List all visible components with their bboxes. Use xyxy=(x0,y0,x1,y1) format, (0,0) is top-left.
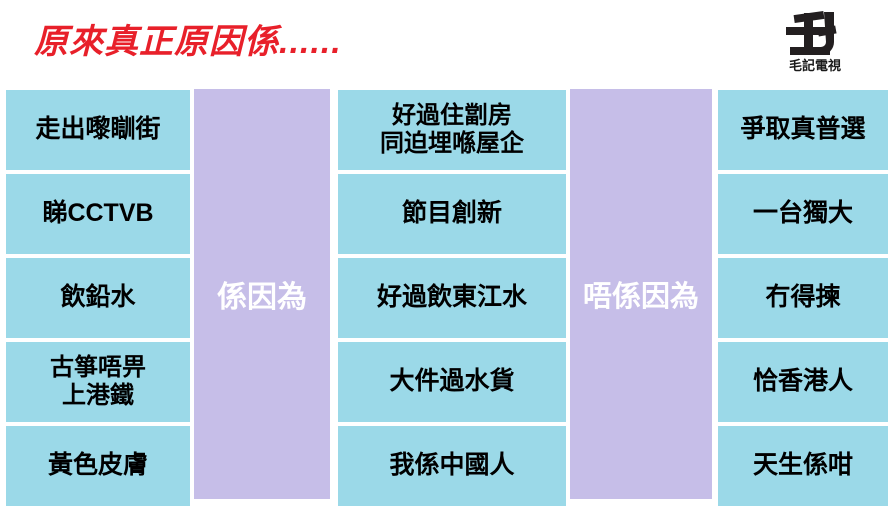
cell-line: 睇CCTVB xyxy=(42,199,153,229)
cell-line: 古箏唔畀 xyxy=(50,354,146,381)
cell-line: 恰香港人 xyxy=(753,367,853,397)
cell-line: 大件過水貨 xyxy=(389,367,514,397)
list-item[interactable]: 走出嚟瞓街 xyxy=(6,90,190,170)
list-item[interactable]: 睇CCTVB xyxy=(6,174,190,254)
list-item[interactable]: 黃色皮膚 xyxy=(6,426,190,506)
list-item[interactable]: 飲鉛水 xyxy=(6,258,190,338)
cell-line: 走出嚟瞓街 xyxy=(35,115,160,145)
cell-line: 冇得揀 xyxy=(765,283,840,313)
list-item[interactable]: 天生係咁 xyxy=(718,426,888,506)
list-item[interactable]: 好過飲東江水 xyxy=(338,258,566,338)
comparison-board: 走出嚟瞓街 睇CCTVB 飲鉛水 古箏唔畀 上港鐵 黃色皮膚 係因為 好過住劏房… xyxy=(0,88,893,501)
cell-line: 我係中國人 xyxy=(389,451,514,481)
cell-line: 飲鉛水 xyxy=(60,283,135,313)
connector-text: 係因為 xyxy=(217,272,307,316)
column-left-reasons: 走出嚟瞓街 睇CCTVB 飲鉛水 古箏唔畀 上港鐵 黃色皮膚 xyxy=(6,88,190,501)
list-item[interactable]: 冇得揀 xyxy=(718,258,888,338)
cell-line: 爭取真普選 xyxy=(740,115,865,145)
channel-logo: 毛記電視 xyxy=(755,10,875,84)
cell-line: 同迫埋喺屋企 xyxy=(380,130,524,157)
page-title: 原來真正原因係...... xyxy=(34,24,342,61)
list-item[interactable]: 好過住劏房 同迫埋喺屋企 xyxy=(338,90,566,170)
list-item[interactable]: 恰香港人 xyxy=(718,342,888,422)
list-item[interactable]: 爭取真普選 xyxy=(718,90,888,170)
slide-header: 原來真正原因係...... 毛記電視 xyxy=(0,0,893,88)
connector-label-not-because: 唔係因為 xyxy=(570,89,712,499)
mo-logo-icon xyxy=(780,10,850,58)
connector-text: 唔係因為 xyxy=(583,273,699,315)
cell-line: 黃色皮膚 xyxy=(48,451,148,481)
cell-text: 古箏唔畀 上港鐵 xyxy=(50,354,146,411)
column-middle-reasons: 好過住劏房 同迫埋喺屋企 節目創新 好過飲東江水 大件過水貨 我係中國人 xyxy=(338,88,566,501)
cell-line: 一台獨大 xyxy=(753,199,853,229)
column-connector-not-because: 唔係因為 xyxy=(570,88,712,501)
cell-line: 好過住劏房 xyxy=(392,102,512,129)
cell-line: 天生係咁 xyxy=(753,451,853,481)
list-item[interactable]: 古箏唔畀 上港鐵 xyxy=(6,342,190,422)
cell-text: 好過住劏房 同迫埋喺屋企 xyxy=(380,102,524,159)
connector-label-because: 係因為 xyxy=(194,89,330,499)
cell-line: 好過飲東江水 xyxy=(377,283,527,313)
column-connector-because: 係因為 xyxy=(194,88,330,501)
list-item[interactable]: 大件過水貨 xyxy=(338,342,566,422)
logo-text: 毛記電視 xyxy=(789,59,841,72)
cell-line: 節目創新 xyxy=(402,199,502,229)
list-item[interactable]: 一台獨大 xyxy=(718,174,888,254)
list-item[interactable]: 我係中國人 xyxy=(338,426,566,506)
list-item[interactable]: 節目創新 xyxy=(338,174,566,254)
cell-line: 上港鐵 xyxy=(62,382,134,409)
column-right-reasons: 爭取真普選 一台獨大 冇得揀 恰香港人 天生係咁 xyxy=(718,88,888,501)
